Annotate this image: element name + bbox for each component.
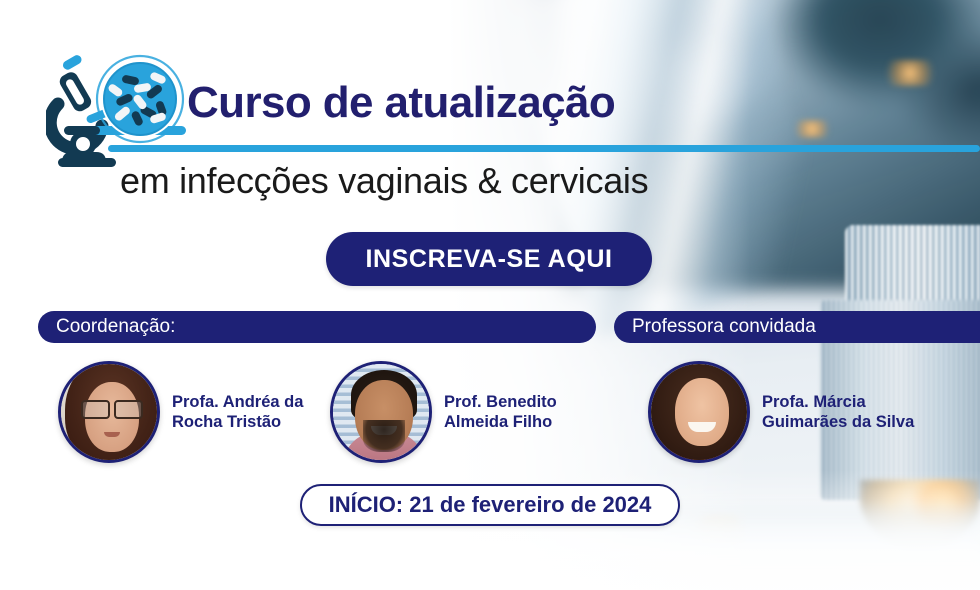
avatar <box>58 361 160 463</box>
inscreva-se-button[interactable]: INSCREVA-SE AQUI <box>326 232 652 286</box>
person-card: Prof. Benedito Almeida Filho <box>330 361 557 463</box>
photo-lens-knurled-ring <box>845 225 980 310</box>
avatar <box>648 361 750 463</box>
person-name: Profa. Márcia Guimarães da Silva <box>762 392 914 432</box>
person-name: Profa. Andréa da Rocha Tristão <box>172 392 303 432</box>
photo-highlight-spark <box>790 120 834 138</box>
person-name-line1: Profa. Márcia <box>762 392 914 412</box>
person-card: Profa. Andréa da Rocha Tristão <box>58 361 303 463</box>
photo-highlight-spark <box>880 60 940 86</box>
section-label-professora-convidada: Professora convidada <box>614 311 980 343</box>
banner-subheadline: em infecções vaginais & cervicais <box>120 160 648 202</box>
accent-divider-line <box>108 145 980 152</box>
person-name-line1: Profa. Andréa da <box>172 392 303 412</box>
person-card: Profa. Márcia Guimarães da Silva <box>648 361 914 463</box>
avatar <box>330 361 432 463</box>
section-label-text: Professora convidada <box>632 316 816 338</box>
portrait-photo <box>61 364 157 460</box>
course-promo-banner: Curso de atualização em infecções vagina… <box>0 0 980 590</box>
section-label-coordenacao: Coordenação: <box>38 311 596 343</box>
person-name-line1: Prof. Benedito <box>444 392 557 412</box>
person-name-line2: Rocha Tristão <box>172 412 303 432</box>
person-name-line2: Almeida Filho <box>444 412 557 432</box>
section-label-text: Coordenação: <box>56 316 175 338</box>
portrait-photo <box>333 364 429 460</box>
person-name-line2: Guimarães da Silva <box>762 412 914 432</box>
brand-logo <box>46 52 186 172</box>
start-date-badge: INÍCIO: 21 de fevereiro de 2024 <box>300 484 680 526</box>
banner-headline: Curso de atualização <box>187 78 615 128</box>
petri-dish-icon <box>97 56 183 142</box>
portrait-photo <box>651 364 747 460</box>
person-name: Prof. Benedito Almeida Filho <box>444 392 557 432</box>
